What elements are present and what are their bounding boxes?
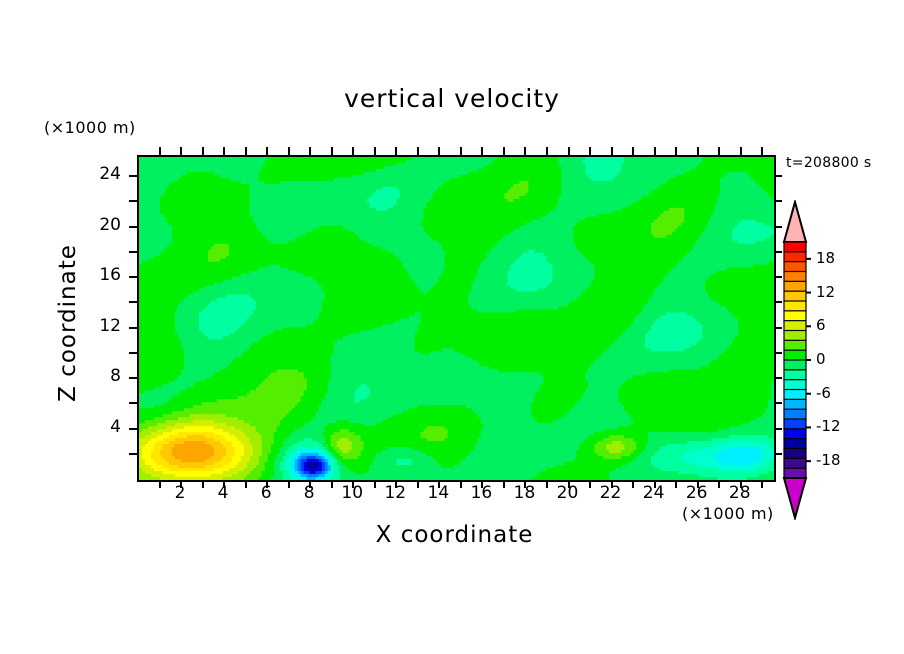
x-tick-top: [266, 147, 268, 155]
y-tick-label: 24: [81, 164, 121, 184]
x-tick-top: [352, 147, 354, 155]
x-tick-label: 24: [634, 483, 674, 503]
x-tick-top: [503, 147, 505, 155]
x-tick-label: 22: [591, 483, 631, 503]
y-axis-units-label: (×1000 m): [44, 118, 136, 137]
colorbar-swatch: [784, 468, 806, 478]
colorbar-tick: [806, 292, 811, 294]
y-tick-label: 4: [81, 417, 121, 437]
y-tick-label: 16: [81, 265, 121, 285]
y-tick-label: 12: [81, 316, 121, 336]
colorbar-swatch: [784, 409, 806, 419]
x-tick-label: 12: [375, 483, 415, 503]
y-tick: [129, 251, 137, 253]
colorbar-tick-label: 0: [816, 350, 826, 368]
y-tick: [129, 175, 137, 177]
y-tick: [129, 301, 137, 303]
y-tick: [129, 276, 137, 278]
colorbar-tick-label: -12: [816, 417, 841, 435]
x-tick-top: [245, 147, 247, 155]
x-axis-title: X coordinate: [137, 522, 772, 548]
y-tick: [129, 352, 137, 354]
colorbar-swatch: [784, 350, 806, 360]
x-tick-label: 14: [418, 483, 458, 503]
y-axis-title: Z coordinate: [55, 193, 81, 453]
y-tick: [129, 377, 137, 379]
y-tick: [129, 402, 137, 404]
colorbar-tick: [806, 325, 811, 327]
x-tick-top: [159, 147, 161, 155]
colorbar-swatch: [784, 331, 806, 341]
figure-canvas: vertical velocity (×1000 m) (×1000 m) X …: [0, 0, 904, 654]
x-tick-label: 10: [332, 483, 372, 503]
colorbar-swatch: [784, 429, 806, 439]
colorbar-swatch: [784, 370, 806, 380]
x-tick-top: [288, 147, 290, 155]
x-tick-top: [718, 147, 720, 155]
colorbar-swatch: [784, 340, 806, 350]
y-tick: [129, 453, 137, 455]
colorbar-tick: [806, 460, 811, 462]
x-tick-label: 28: [720, 483, 760, 503]
y-tick-label: 20: [81, 215, 121, 235]
x-tick-top: [740, 147, 742, 155]
colorbar-tick-label: -6: [816, 384, 831, 402]
vertical-velocity-field: [139, 157, 774, 480]
x-tick-top: [524, 147, 526, 155]
colorbar-swatch: [784, 380, 806, 390]
x-tick-top: [331, 147, 333, 155]
colorbar-swatches: [778, 200, 818, 520]
x-tick-top: [568, 147, 570, 155]
x-tick-top: [481, 147, 483, 155]
colorbar-swatch: [784, 311, 806, 321]
colorbar-swatch: [784, 439, 806, 449]
colorbar-swatch: [784, 262, 806, 272]
x-tick-top: [202, 147, 204, 155]
colorbar-tick: [806, 359, 811, 361]
x-tick-top: [374, 147, 376, 155]
x-tick-label: 26: [677, 483, 717, 503]
y-tick-label: 8: [81, 366, 121, 386]
x-tick-top: [546, 147, 548, 155]
x-tick-top: [589, 147, 591, 155]
colorbar-swatch: [784, 458, 806, 468]
colorbar-tick: [806, 258, 811, 260]
x-tick-top: [761, 147, 763, 155]
colorbar-swatch: [784, 242, 806, 252]
colorbar-tick-label: -18: [816, 451, 841, 469]
colorbar-swatch: [784, 301, 806, 311]
x-tick-label: 8: [289, 483, 329, 503]
y-tick: [129, 200, 137, 202]
colorbar-swatch: [784, 291, 806, 301]
y-tick-right: [774, 175, 782, 177]
x-tick-top: [180, 147, 182, 155]
x-tick-top: [438, 147, 440, 155]
contour-plot-area: [137, 155, 776, 482]
x-tick-top: [654, 147, 656, 155]
colorbar: [778, 200, 818, 520]
x-tick-top: [395, 147, 397, 155]
page-title: vertical velocity: [0, 84, 904, 113]
colorbar-swatch: [784, 419, 806, 429]
colorbar-swatch: [784, 281, 806, 291]
x-tick-top: [675, 147, 677, 155]
x-tick-label: 2: [160, 483, 200, 503]
colorbar-under-cap: [784, 478, 806, 518]
colorbar-tick-label: 12: [816, 283, 835, 301]
colorbar-swatch: [784, 252, 806, 262]
colorbar-tick-label: 6: [816, 316, 826, 334]
x-tick-label: 20: [548, 483, 588, 503]
x-tick-label: 18: [504, 483, 544, 503]
colorbar-swatch: [784, 399, 806, 409]
colorbar-swatch: [784, 272, 806, 282]
colorbar-tick: [806, 393, 811, 395]
x-tick-top: [223, 147, 225, 155]
colorbar-tick: [806, 426, 811, 428]
x-tick-label: 6: [246, 483, 286, 503]
colorbar-swatch: [784, 360, 806, 370]
time-annotation: t=208800 s: [786, 155, 871, 171]
x-tick-top: [611, 147, 613, 155]
y-tick: [129, 226, 137, 228]
x-tick-top: [460, 147, 462, 155]
x-tick-top: [632, 147, 634, 155]
x-tick-label: 16: [461, 483, 501, 503]
x-tick: [761, 480, 763, 488]
colorbar-swatch: [784, 321, 806, 331]
colorbar-swatch: [784, 449, 806, 459]
x-tick-top: [417, 147, 419, 155]
x-tick-top: [309, 147, 311, 155]
y-tick: [129, 428, 137, 430]
colorbar-over-cap: [784, 202, 806, 242]
colorbar-tick-label: 18: [816, 249, 835, 267]
y-tick: [129, 327, 137, 329]
x-tick-label: 4: [203, 483, 243, 503]
colorbar-swatch: [784, 390, 806, 400]
x-axis-units-label: (×1000 m): [682, 504, 774, 523]
x-tick-top: [697, 147, 699, 155]
